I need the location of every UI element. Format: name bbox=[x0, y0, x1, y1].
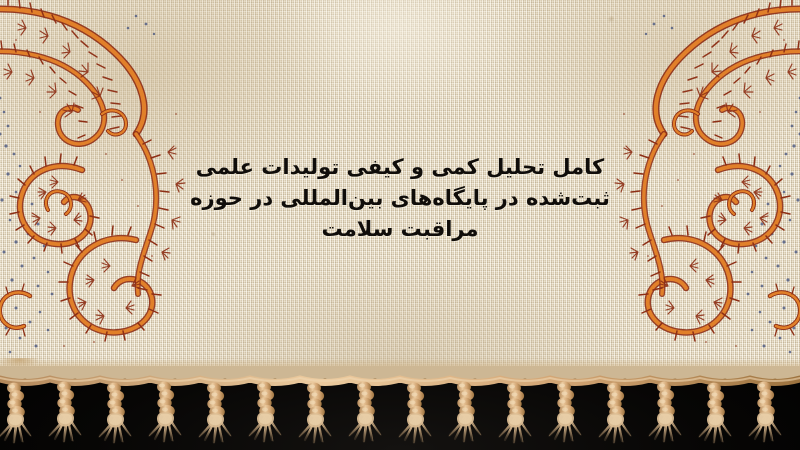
tassel-fringe bbox=[0, 366, 800, 450]
slide-title: کامل تحلیل کمی و کیفی تولیدات علمی ثبت‌ش… bbox=[150, 152, 650, 245]
title-line-3: مراقبت سلامت bbox=[150, 214, 650, 245]
title-line-2: ثبت‌شده در پایگاه‌های بین‌المللی در حوزه bbox=[150, 183, 650, 214]
slide-canvas: کامل تحلیل کمی و کیفی تولیدات علمی ثبت‌ش… bbox=[0, 0, 800, 450]
title-line-1: کامل تحلیل کمی و کیفی تولیدات علمی bbox=[150, 152, 650, 183]
